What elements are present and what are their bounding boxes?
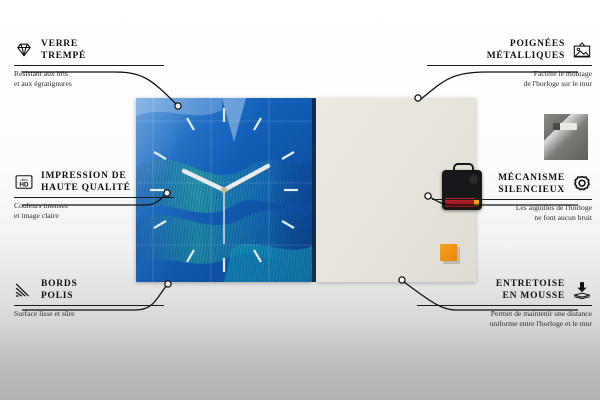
feature-subtitle: Permet de maintenir une distance (417, 309, 592, 318)
feature-title: VERRE TREMPÉ (41, 38, 86, 62)
svg-text:HD: HD (19, 182, 29, 189)
divider (14, 305, 164, 306)
divider (417, 305, 592, 306)
feature-header: BORDS POLIS (14, 278, 164, 302)
feature-header: ultra HD IMPRESSION DE HAUTE QUALITÉ (14, 170, 174, 194)
feature-poignees-metalliques: POIGNÉES MÉTALLIQUES Facilite le montage… (427, 38, 592, 88)
feature-subtitle: Surface lisse et sûre (14, 309, 164, 318)
feature-subtitle: Résistant aux bris (14, 69, 164, 78)
feature-subtitle: uniforme entre l'horloge et le mur (417, 319, 592, 328)
metal-hanger-bracket (544, 114, 588, 160)
feature-subtitle: de l'horloge sur le mur (427, 79, 592, 88)
feature-header: MÉCANISME SILENCIEUX (432, 172, 592, 196)
polished-edge-icon (14, 280, 34, 300)
feature-subtitle: Couleurs intenses (14, 201, 174, 210)
feature-subtitle: et image claire (14, 211, 174, 220)
feature-entretoise-en-mousse: ENTRETOISE EN MOUSSE Permet de maintenir… (417, 278, 592, 328)
feature-subtitle: Facilite le montage (427, 69, 592, 78)
feature-verre-trempe: VERRE TREMPÉ Résistant aux bris et aux é… (14, 38, 164, 88)
divider (427, 65, 592, 66)
ultra-hd-icon: ultra HD (14, 172, 34, 192)
feature-subtitle: ne font aucun bruit (432, 213, 592, 222)
divider (14, 197, 174, 198)
feature-title: BORDS POLIS (41, 278, 77, 302)
feature-impression-haute-qualite: ultra HD IMPRESSION DE HAUTE QUALITÉ Cou… (14, 170, 174, 220)
feature-title: MÉCANISME SILENCIEUX (498, 172, 565, 196)
divider (14, 65, 164, 66)
diamond-icon (14, 40, 34, 60)
feature-title: ENTRETOISE EN MOUSSE (496, 278, 565, 302)
product-image (136, 98, 476, 282)
feature-title: IMPRESSION DE HAUTE QUALITÉ (41, 170, 131, 194)
feature-header: VERRE TREMPÉ (14, 38, 164, 62)
feature-header: ENTRETOISE EN MOUSSE (417, 278, 592, 302)
picture-frame-hanger-icon (572, 40, 592, 60)
feature-title: POIGNÉES MÉTALLIQUES (487, 38, 565, 62)
divider (432, 199, 592, 200)
feature-header: POIGNÉES MÉTALLIQUES (427, 38, 592, 62)
gear-icon (572, 174, 592, 194)
feature-bords-polis: BORDS POLIS Surface lisse et sûre (14, 278, 164, 319)
feature-mecanisme-silencieux: MÉCANISME SILENCIEUX Les aiguilles de l'… (432, 172, 592, 222)
foam-spacer-pad (440, 244, 457, 261)
infographic-stage: VERRE TREMPÉ Résistant aux bris et aux é… (0, 0, 600, 400)
feature-subtitle: Les aiguilles de l'horloge (432, 203, 592, 212)
foam-spacer-arrow-icon (572, 280, 592, 300)
feature-subtitle: et aux égratignures (14, 79, 164, 88)
